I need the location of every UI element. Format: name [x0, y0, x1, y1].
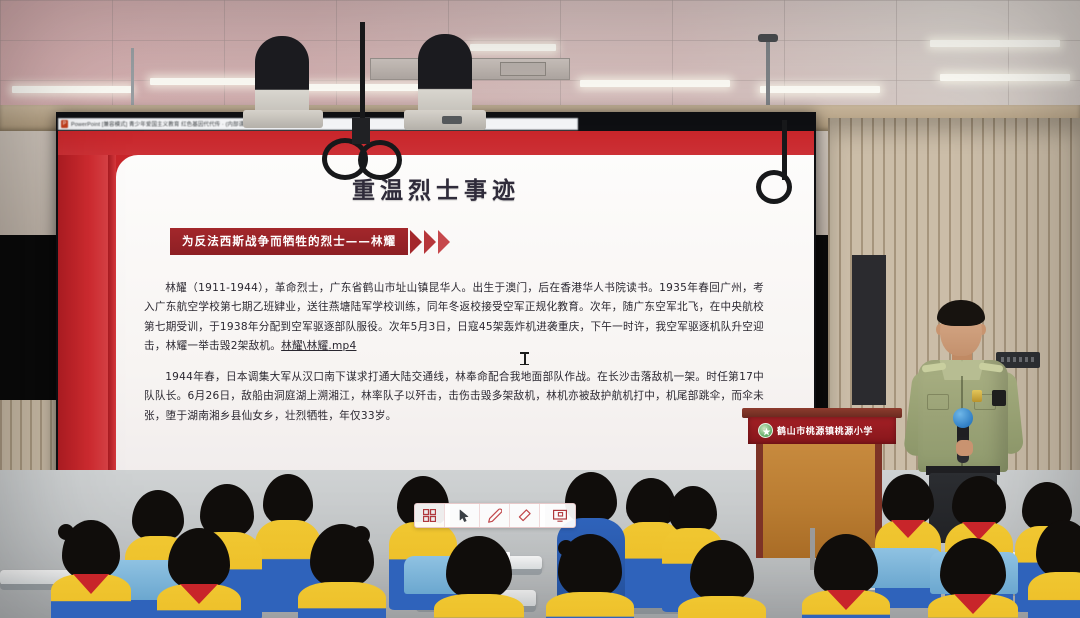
ceiling-light	[760, 86, 880, 93]
slide-body-text: 林耀（1911-1944），革命烈士，广东省鹤山市址山镇昆华人。出生于澳门，后在…	[144, 279, 764, 438]
student-head	[814, 534, 878, 596]
student	[934, 538, 1012, 618]
presenter-chest-badge	[972, 390, 982, 402]
hanging-cable	[782, 120, 787, 180]
school-name-label: 鹤山市桃源镇桃源小学	[777, 424, 873, 437]
student	[304, 524, 380, 618]
slide-grid-icon	[423, 509, 436, 522]
student-uniform	[546, 592, 634, 618]
student	[56, 520, 126, 618]
powerpoint-title-text: PowerPoint [兼容模式] 青少年爱国主义教育 红色基因代代传 · (内…	[71, 120, 252, 128]
student-head	[168, 528, 230, 590]
student-uniform	[678, 596, 766, 618]
microphone-head-icon	[953, 408, 973, 428]
student-head	[669, 486, 717, 534]
projector-unit-right	[418, 34, 472, 122]
eraser-button[interactable]	[510, 504, 540, 527]
ceiling-light	[470, 44, 556, 51]
slide-sheet-edge	[108, 155, 116, 513]
student-head	[62, 520, 120, 580]
cable-loop	[358, 140, 402, 180]
student-uniform	[1028, 572, 1080, 618]
podium-school-sign: 鹤山市桃源镇桃源小学	[748, 417, 896, 444]
presenter-arm-patch	[992, 390, 1006, 406]
slide-paragraph-1: 林耀（1911-1944），革命烈士，广东省鹤山市址山镇昆华人。出生于澳门，后在…	[144, 279, 764, 356]
student-head	[263, 474, 313, 526]
student	[552, 534, 628, 618]
chevron-icon	[410, 230, 422, 254]
presenter-hair	[937, 300, 985, 326]
pointer-icon	[459, 509, 471, 523]
student-head	[882, 474, 934, 526]
school-emblem-icon	[758, 423, 773, 438]
display-icon	[553, 509, 567, 522]
powerpoint-logo-icon: P	[61, 120, 68, 128]
slide-top-red-band	[58, 131, 814, 155]
student-head	[952, 476, 1006, 528]
slide-paragraph-2: 1944年春，日本调集大军从汉口南下谋求打通大陆交通线，林奉命配合我地面部队作战…	[144, 368, 764, 426]
ceiling-light	[940, 74, 1070, 81]
student	[440, 536, 518, 618]
student-head	[446, 536, 512, 600]
pen-icon	[487, 508, 502, 523]
student	[808, 534, 884, 618]
slide-grid-button[interactable]	[415, 504, 445, 527]
ceiling-vent	[500, 62, 546, 76]
student-uniform	[434, 594, 524, 618]
ceiling-light	[930, 40, 1060, 47]
student	[1034, 520, 1080, 618]
pen-button[interactable]	[480, 504, 510, 527]
wall-dark-panel	[852, 255, 886, 405]
ceiling-mount-base	[758, 34, 778, 42]
ceiling	[0, 0, 1080, 118]
presenter-pocket-left	[927, 394, 949, 410]
presenter-hand	[956, 440, 973, 456]
student	[162, 528, 236, 618]
presentation-toolbar[interactable]	[414, 503, 576, 528]
student-head	[940, 538, 1006, 600]
projector-base-left	[243, 110, 323, 128]
cable-loop	[756, 170, 792, 204]
pointer-button[interactable]	[450, 504, 480, 527]
slide-banner-label: 为反法西斯战争而牺牲的烈士——林耀	[170, 228, 408, 255]
display-settings-button[interactable]	[545, 504, 575, 527]
slide-banner: 为反法西斯战争而牺牲的烈士——林耀	[170, 228, 450, 255]
ceiling-light	[580, 80, 730, 87]
ceiling-light	[12, 86, 132, 93]
paragraph-1-text: 林耀（1911-1944），革命烈士，广东省鹤山市址山镇昆华人。出生于澳门，后在…	[144, 282, 764, 352]
hanging-cable	[360, 22, 365, 130]
student-head	[558, 534, 622, 598]
cable-clamp	[352, 118, 370, 144]
video-hyperlink-ext[interactable]: .mp4	[328, 340, 356, 352]
student-head	[1036, 520, 1080, 578]
chevron-icon	[438, 230, 450, 254]
slide-canvas[interactable]: 重温烈士事迹 为反法西斯战争而牺牲的烈士——林耀 林耀（1911-1944），革…	[58, 131, 814, 513]
text-cursor-icon	[520, 352, 529, 365]
classroom-scene: P PowerPoint [兼容模式] 青少年爱国主义教育 红色基因代代传 · …	[0, 0, 1080, 618]
student-uniform	[298, 582, 386, 618]
chevron-icon	[424, 230, 436, 254]
slide-title: 重温烈士事迹	[58, 171, 814, 205]
eraser-icon	[517, 508, 532, 523]
projector-label	[442, 116, 462, 124]
video-hyperlink[interactable]: 林耀\林耀	[281, 340, 328, 352]
